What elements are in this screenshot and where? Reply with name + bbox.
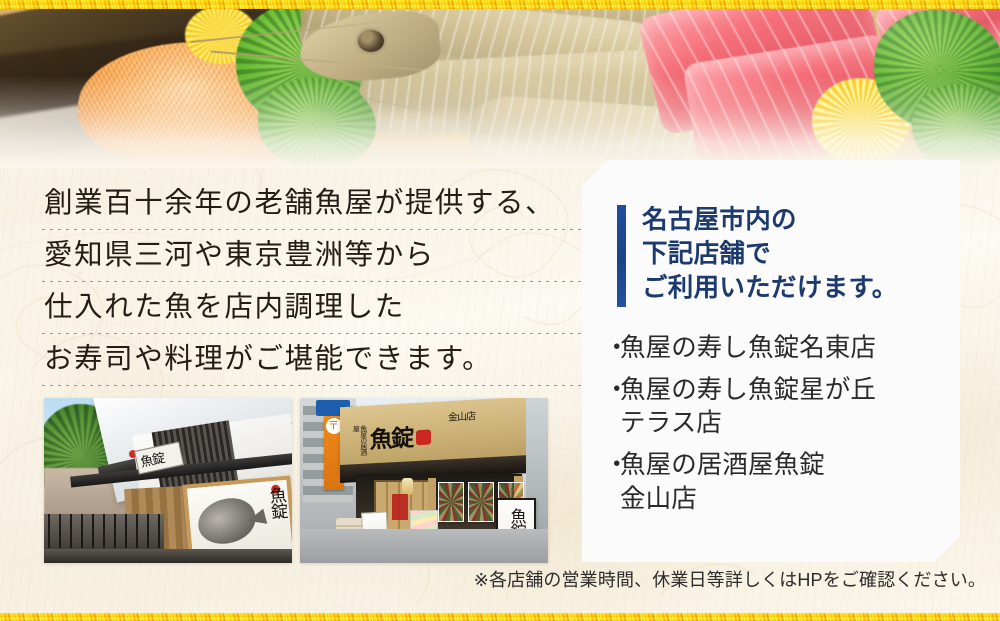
card-heading-line-1: 名古屋市内の (642, 203, 898, 237)
list-item[interactable]: ・ 魚屋の寿し魚錠名東店 (604, 332, 944, 365)
photo1-ground (44, 549, 292, 563)
card-heading-text: 名古屋市内の 下記店舗で ご利用いただけます。 (642, 203, 898, 305)
store-name-2-line-2: テラス店 (620, 409, 722, 437)
list-item[interactable]: ・ 魚屋の寿し魚錠星が丘 テラス店 (604, 374, 944, 440)
chrysanthemum-flower-right (812, 78, 910, 164)
intro-line-1-text: 創業百十余年の老舗魚屋が提供する、 (44, 190, 555, 219)
photo1-layers: 魚錠 (44, 398, 292, 563)
store-list: ・ 魚屋の寿し魚錠名東店 ・ 魚屋の寿し魚錠星が丘 テラス店 ・ 魚屋の居酒屋魚… (604, 332, 944, 525)
photo2-red-seal (416, 429, 431, 445)
bullet-icon: ・ (604, 332, 618, 365)
footer-note: ※各店舗の営業時間、休業日等詳しくはHPをご確認ください。 (0, 570, 986, 592)
dotted-rule-4 (42, 385, 610, 386)
photo2-noren-curtain (392, 494, 408, 520)
storefront-photo-meito: 魚錠 (44, 398, 292, 563)
photo2-brand-text: 魚錠 (370, 426, 413, 451)
store-name-2: 魚屋の寿し魚錠星が丘 テラス店 (620, 374, 944, 440)
intro-line-1: 創業百十余年の老舗魚屋が提供する、 (44, 178, 564, 230)
photo2-sub-brand-text: 魚屋の居酒屋 (352, 425, 367, 456)
gold-foil-top-border (0, 0, 1000, 9)
store-info-card: 名古屋市内の 下記店舗で ご利用いただけます。 ・ 魚屋の寿し魚錠名東店 ・ 魚… (582, 160, 960, 562)
intro-line-4: お寿司や料理がご堪能できます。 (44, 334, 564, 386)
shrimp-antenna-3 (332, 90, 518, 131)
shrimp-body-3 (468, 94, 772, 168)
photo2-layers: 魚屋の居酒屋 魚錠 金山店 (300, 398, 548, 563)
storefront-photo-kanayama: 魚屋の居酒屋 魚錠 金山店 (300, 398, 548, 563)
intro-line-3-text: 仕入れた魚を店内調理した (44, 294, 405, 323)
store-name-2-line-1: 魚屋の寿し魚錠星が丘 (620, 376, 876, 404)
intro-line-2: 愛知県三河や東京豊洲等から (44, 230, 564, 282)
card-heading-line-3: ご利用いただけます。 (642, 271, 898, 305)
blue-accent-bar (617, 205, 626, 307)
parsley-garnish-right-lower (912, 84, 1000, 168)
intro-copy-block: 創業百十余年の老舗魚屋が提供する、 愛知県三河や東京豊洲等から 仕入れた魚を店内… (44, 178, 564, 386)
intro-line-4-text: お寿司や料理がご堪能できます。 (44, 346, 492, 375)
card-heading-line-2: 下記店舗で (642, 237, 898, 271)
photo2-menu-poster-1 (438, 482, 464, 522)
serving-plate-shape (0, 70, 315, 168)
bullet-icon: ・ (604, 449, 618, 482)
store-name-1: 魚屋の寿し魚錠名東店 (620, 332, 944, 365)
store-name-3-line-2: 金山店 (620, 485, 697, 513)
gold-foil-bottom-border (0, 613, 1000, 621)
intro-line-2-text: 愛知県三河や東京豊洲等から (44, 242, 435, 271)
photo1-railing (48, 514, 160, 548)
photo2-branch-text: 金山店 (448, 407, 475, 423)
store-name-1-line-1: 魚屋の寿し魚錠名東店 (620, 334, 876, 362)
photo1-mural-brand-text: 魚錠 (266, 486, 285, 519)
promo-banner-canvas: 創業百十余年の老舗魚屋が提供する、 愛知県三河や東京豊洲等から 仕入れた魚を店内… (0, 0, 1000, 621)
list-item[interactable]: ・ 魚屋の居酒屋魚錠 金山店 (604, 449, 944, 515)
photo2-menu-poster-2 (468, 482, 494, 522)
parsley-garnish-center (258, 78, 376, 168)
hero-photo-layer (0, 0, 1000, 168)
hero-photo-glow (0, 0, 1000, 168)
sashimi-hero-photo (0, 0, 1000, 168)
photo2-lantern (402, 478, 413, 495)
photo2-sidewalk (300, 529, 548, 563)
bullet-icon: ・ (604, 374, 618, 407)
store-name-3: 魚屋の居酒屋魚錠 金山店 (620, 449, 944, 515)
card-heading-block: 名古屋市内の 下記店舗で ご利用いただけます。 (617, 203, 898, 307)
storefront-photo-gallery: 魚錠 魚屋の居酒屋 魚錠 金山店 (44, 398, 548, 563)
store-name-3-line-1: 魚屋の居酒屋魚錠 (620, 451, 825, 479)
intro-line-3: 仕入れた魚を店内調理した (44, 282, 564, 334)
